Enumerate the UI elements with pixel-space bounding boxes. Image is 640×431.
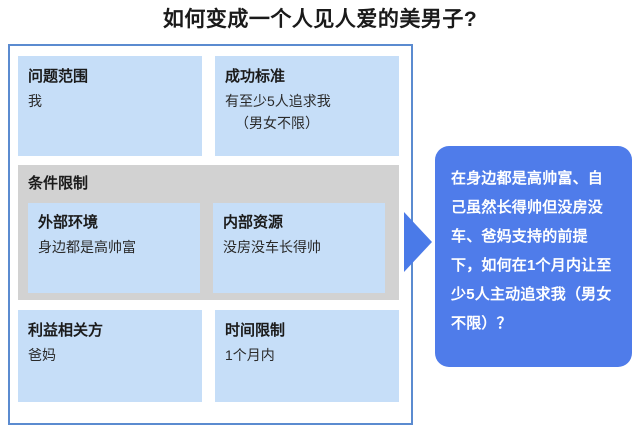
top-row: 问题范围 我 成功标准 有至少5人追求我 （男女不限）: [18, 56, 399, 156]
card-title: 成功标准: [225, 66, 399, 87]
page-title: 如何变成一个人见人爱的美男子?: [0, 6, 640, 34]
card-body: 爸妈: [28, 344, 202, 366]
card-success-criteria: 成功标准 有至少5人追求我 （男女不限）: [215, 56, 399, 156]
card-title: 内部资源: [223, 212, 385, 233]
card-problem-scope: 问题范围 我: [18, 56, 202, 156]
card-title: 利益相关方: [28, 320, 202, 341]
card-title: 外部环境: [38, 212, 200, 233]
card-body: 有至少5人追求我 （男女不限）: [225, 90, 399, 134]
problem-definition-board: 问题范围 我 成功标准 有至少5人追求我 （男女不限） 条件限制 外部环境: [8, 44, 413, 425]
card-title: 问题范围: [28, 66, 202, 87]
card-body: 我: [28, 90, 202, 112]
constraints-band: 条件限制 外部环境 身边都是高帅富 内部资源 没房没车长得帅: [18, 165, 399, 300]
card-line: 有至少5人追求我: [225, 93, 331, 109]
arrow-right-icon: [404, 212, 432, 272]
bottom-row: 利益相关方 爸妈 时间限制 1个月内: [18, 310, 399, 402]
card-stakeholders: 利益相关方 爸妈: [18, 310, 202, 402]
card-line: （男女不限）: [225, 112, 399, 134]
card-body: 没房没车长得帅: [223, 236, 385, 258]
card-line: 没房没车长得帅: [223, 239, 321, 255]
card-line: 我: [28, 93, 42, 109]
card-title: 时间限制: [225, 320, 399, 341]
summary-callout-text: 在身边都是高帅富、自己虽然长得帅但没房没车、爸妈支持的前提下，如何在1个月内让至…: [451, 164, 618, 338]
constraints-title: 条件限制: [28, 173, 399, 195]
summary-callout: 在身边都是高帅富、自己虽然长得帅但没房没车、爸妈支持的前提下，如何在1个月内让至…: [435, 146, 632, 367]
card-external-environment: 外部环境 身边都是高帅富: [28, 203, 200, 293]
card-line: 身边都是高帅富: [38, 239, 136, 255]
card-line: 1个月内: [225, 347, 275, 363]
board-inner: 问题范围 我 成功标准 有至少5人追求我 （男女不限） 条件限制 外部环境: [18, 56, 399, 411]
card-body: 身边都是高帅富: [38, 236, 200, 258]
card-internal-resources: 内部资源 没房没车长得帅: [213, 203, 385, 293]
card-body: 1个月内: [225, 344, 399, 366]
card-time-limit: 时间限制 1个月内: [215, 310, 399, 402]
card-line: 爸妈: [28, 347, 56, 363]
constraints-row: 外部环境 身边都是高帅富 内部资源 没房没车长得帅: [28, 203, 399, 293]
